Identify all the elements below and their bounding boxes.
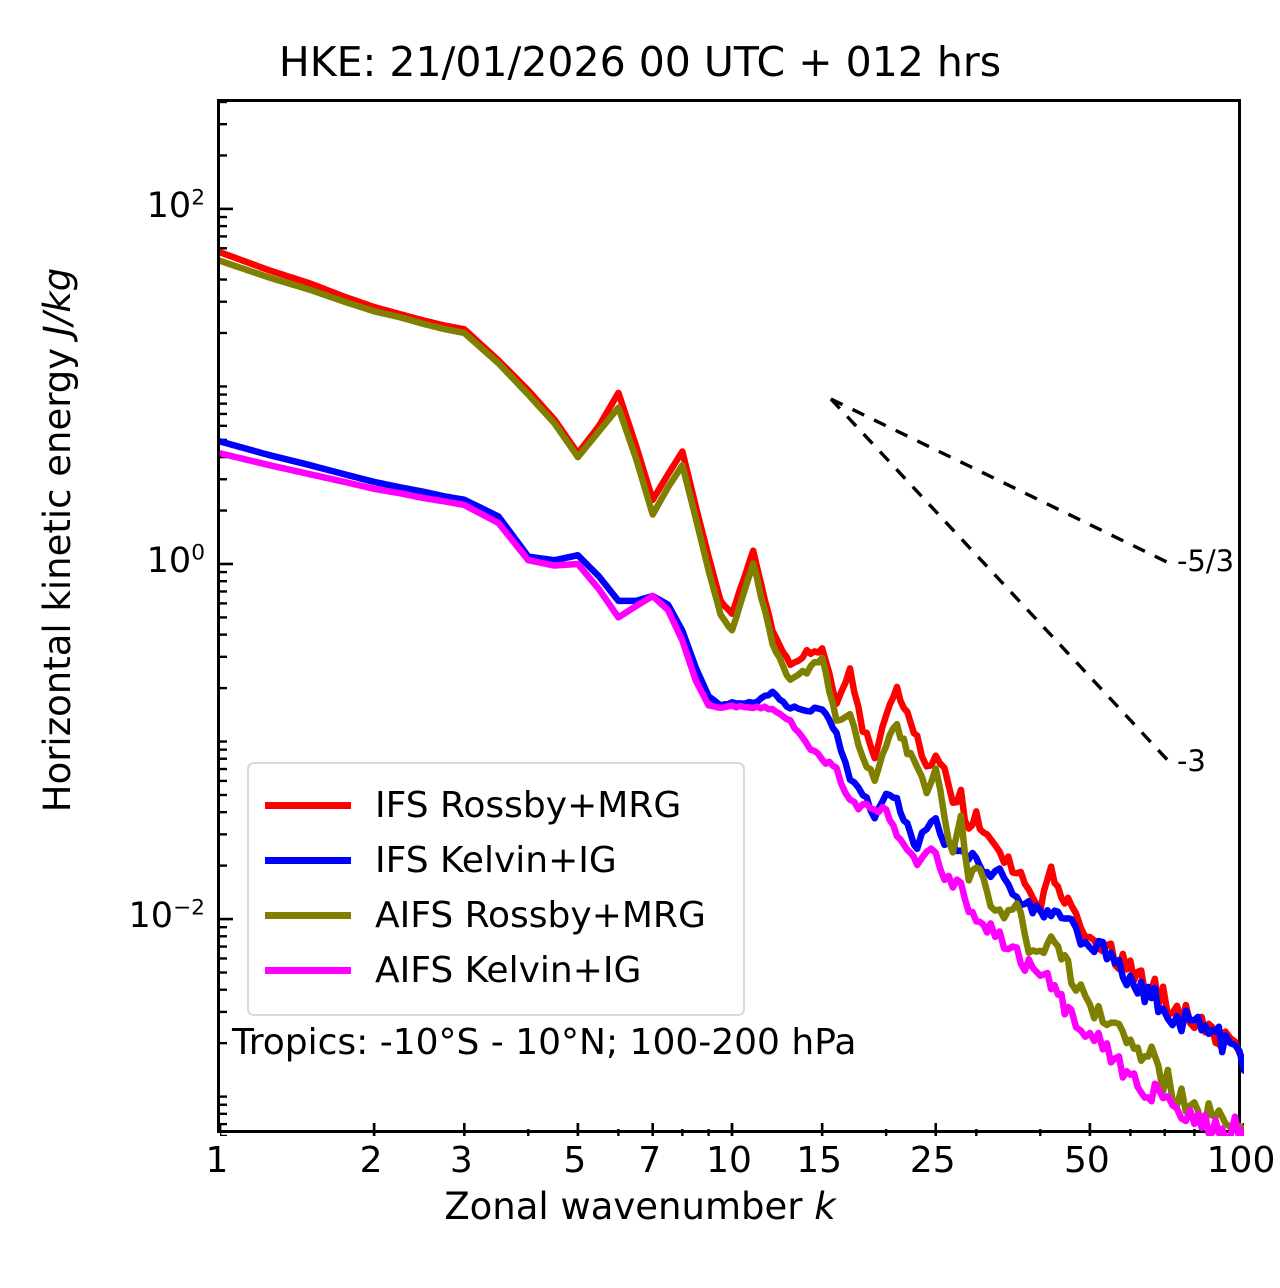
- y-tick-label-2: 10−2: [128, 896, 205, 936]
- legend-label: IFS Kelvin+IG: [375, 840, 617, 881]
- figure-canvas: HKE: 21/01/2026 00 UTC + 012 hrs 1021001…: [0, 0, 1280, 1288]
- legend-item-0[interactable]: IFS Rossby+MRG: [265, 778, 727, 833]
- legend-swatch-icon: [265, 857, 351, 864]
- x-tick-label-50: 50: [1064, 1140, 1110, 1181]
- x-tick-label-100: 100: [1207, 1140, 1276, 1181]
- slope-label-five-thirds: -5/3: [1177, 544, 1234, 578]
- x-axis-symbol: k: [814, 1185, 835, 1228]
- legend-swatch-icon: [265, 967, 351, 974]
- legend-item-1[interactable]: IFS Kelvin+IG: [265, 833, 727, 888]
- slope-label-three: -3: [1177, 744, 1206, 778]
- x-tick-label-25: 25: [910, 1140, 956, 1181]
- x-tick-label-7: 7: [638, 1140, 661, 1181]
- legend-label: IFS Rossby+MRG: [375, 785, 681, 826]
- x-tick-label-10: 10: [706, 1140, 752, 1181]
- legend-swatch-icon: [265, 912, 351, 919]
- legend: IFS Rossby+MRGIFS Kelvin+IGAIFS Rossby+M…: [247, 762, 745, 1016]
- legend-item-2[interactable]: AIFS Rossby+MRG: [265, 888, 727, 943]
- y-axis-label: Horizontal kinetic energy J/kg: [36, 190, 86, 890]
- x-tick-label-1: 1: [206, 1140, 229, 1181]
- y-axis-units: J/kg: [36, 268, 79, 336]
- legend-label: AIFS Rossby+MRG: [375, 895, 706, 936]
- x-axis-label-text: Zonal wavenumber: [444, 1185, 814, 1228]
- x-tick-label-2: 2: [360, 1140, 383, 1181]
- y-tick-label-1: 100: [147, 541, 205, 581]
- x-tick-label-5: 5: [563, 1140, 586, 1181]
- region-annotation: Tropics: -10°S - 10°N; 100-200 hPa: [232, 1022, 856, 1063]
- x-tick-label-15: 15: [796, 1140, 842, 1181]
- legend-item-3[interactable]: AIFS Kelvin+IG: [265, 943, 727, 998]
- x-tick-label-3: 3: [450, 1140, 473, 1181]
- x-axis-label: Zonal wavenumber k: [0, 1185, 1280, 1228]
- y-axis-label-text: Horizontal kinetic energy: [36, 336, 79, 812]
- y-tick-label-0: 102: [147, 186, 205, 226]
- legend-label: AIFS Kelvin+IG: [375, 950, 641, 991]
- legend-swatch-icon: [265, 802, 351, 809]
